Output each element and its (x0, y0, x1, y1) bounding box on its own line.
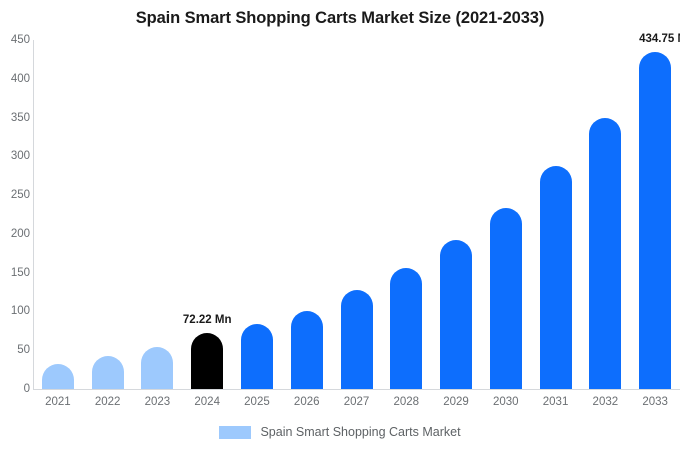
bar-group-2021[interactable] (42, 40, 74, 389)
bar-group-2033[interactable]: 434.75 Mn (639, 40, 671, 389)
plot-area: 72.22 Mn434.75 Mn (33, 40, 680, 389)
y-axis-tick-0: 0 (2, 383, 30, 395)
chart-title: Spain Smart Shopping Carts Market Size (… (0, 9, 680, 28)
bar-2025[interactable] (241, 324, 273, 389)
y-axis-tick-200: 200 (2, 228, 30, 240)
y-axis-tick-300: 300 (2, 150, 30, 162)
x-axis-tick-2033: 2033 (625, 396, 680, 408)
y-axis-tick-250: 250 (2, 189, 30, 201)
y-axis-tick-labels: 050100150200250300350400450 (0, 0, 30, 450)
bar-group-2025[interactable] (241, 40, 273, 389)
y-axis-tick-150: 150 (2, 267, 30, 279)
bar-2023[interactable] (141, 347, 173, 389)
bar-2022[interactable] (92, 356, 124, 389)
bar-group-2022[interactable] (92, 40, 124, 389)
bar-group-2024[interactable]: 72.22 Mn (191, 40, 223, 389)
bar-2024[interactable] (191, 333, 223, 389)
bar-group-2026[interactable] (291, 40, 323, 389)
y-axis-tick-50: 50 (2, 344, 30, 356)
bar-2031[interactable] (540, 166, 572, 389)
bar-2021[interactable] (42, 364, 74, 389)
bar-group-2027[interactable] (341, 40, 373, 389)
bar-chart: Spain Smart Shopping Carts Market Size (… (0, 0, 680, 450)
bar-group-2031[interactable] (540, 40, 572, 389)
bar-group-2032[interactable] (589, 40, 621, 389)
bar-2029[interactable] (440, 240, 472, 389)
bar-value-label-2024: 72.22 Mn (183, 314, 232, 326)
bar-group-2023[interactable] (141, 40, 173, 389)
bar-2030[interactable] (490, 208, 522, 389)
chart-legend: Spain Smart Shopping Carts Market (0, 425, 680, 439)
y-axis-tick-450: 450 (2, 34, 30, 46)
y-axis-tick-100: 100 (2, 305, 30, 317)
legend-swatch-spain-smart-shopping-carts-market (219, 426, 251, 439)
y-axis-tick-400: 400 (2, 73, 30, 85)
legend-label-spain-smart-shopping-carts-market: Spain Smart Shopping Carts Market (260, 425, 460, 439)
bar-group-2028[interactable] (390, 40, 422, 389)
bar-group-2030[interactable] (490, 40, 522, 389)
bar-2033[interactable] (639, 52, 671, 389)
x-axis-tick-labels: 2021202220232024202520262027202820292030… (33, 396, 680, 416)
y-axis-tick-350: 350 (2, 112, 30, 124)
bar-group-2029[interactable] (440, 40, 472, 389)
bar-2027[interactable] (341, 290, 373, 389)
bar-2028[interactable] (390, 268, 422, 389)
bar-2026[interactable] (291, 311, 323, 389)
bar-value-label-2033: 434.75 Mn (639, 33, 680, 45)
x-axis-line (33, 389, 680, 390)
bar-2032[interactable] (589, 118, 621, 389)
